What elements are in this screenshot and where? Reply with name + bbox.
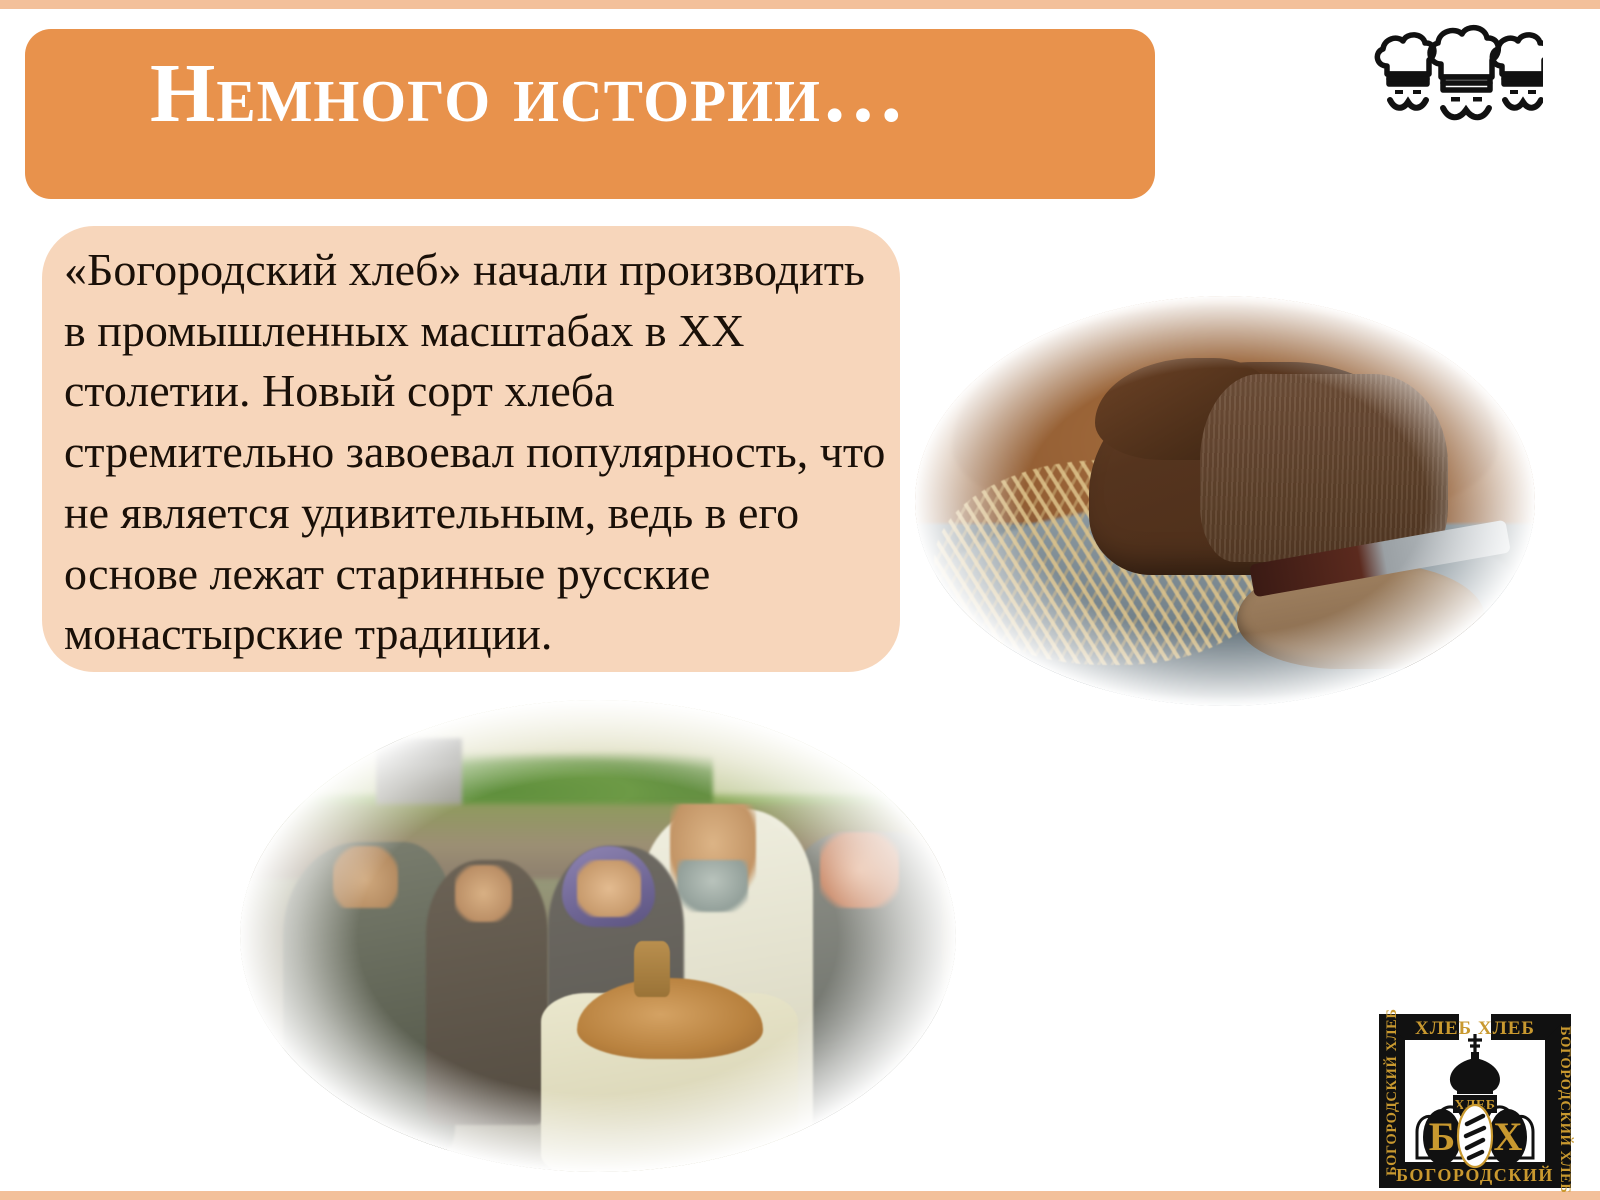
bottom-accent-band bbox=[0, 1191, 1600, 1200]
slide: Немного истории… bbox=[0, 0, 1600, 1200]
bogorodsky-khleb-logo: ХЛЕБ ХЛЕБ БОГОРОДСКИЙ БОГОРОДСКИЙ ХЛЕБ Б… bbox=[1375, 1000, 1575, 1192]
three-chef-hats-icon bbox=[1371, 22, 1543, 122]
body-paragraph: «Богородский хлеб» начали производить в … bbox=[64, 240, 894, 665]
rye-bread-photo bbox=[915, 296, 1535, 706]
body-text-card: «Богородский хлеб» начали производить в … bbox=[42, 226, 900, 672]
painting-vignette bbox=[240, 700, 956, 1172]
bread-vignette bbox=[915, 296, 1535, 706]
logo-right-side-text: БОГОРОДСКИЙ ХЛЕБ bbox=[1557, 1026, 1574, 1192]
logo-top-left-word: ХЛЕБ bbox=[1415, 1018, 1472, 1039]
logo-monogram-left: Б bbox=[1429, 1114, 1455, 1159]
page-title: Немного истории… bbox=[150, 50, 1100, 138]
logo-left-side-text: БОГОРОДСКИЙ ХЛЕБ bbox=[1383, 1008, 1400, 1176]
peasants-bread-salt-painting bbox=[240, 700, 956, 1172]
logo-top-right-word: ХЛЕБ bbox=[1478, 1018, 1535, 1039]
logo-monogram-right: Х bbox=[1494, 1114, 1523, 1159]
top-accent-band bbox=[0, 0, 1600, 9]
